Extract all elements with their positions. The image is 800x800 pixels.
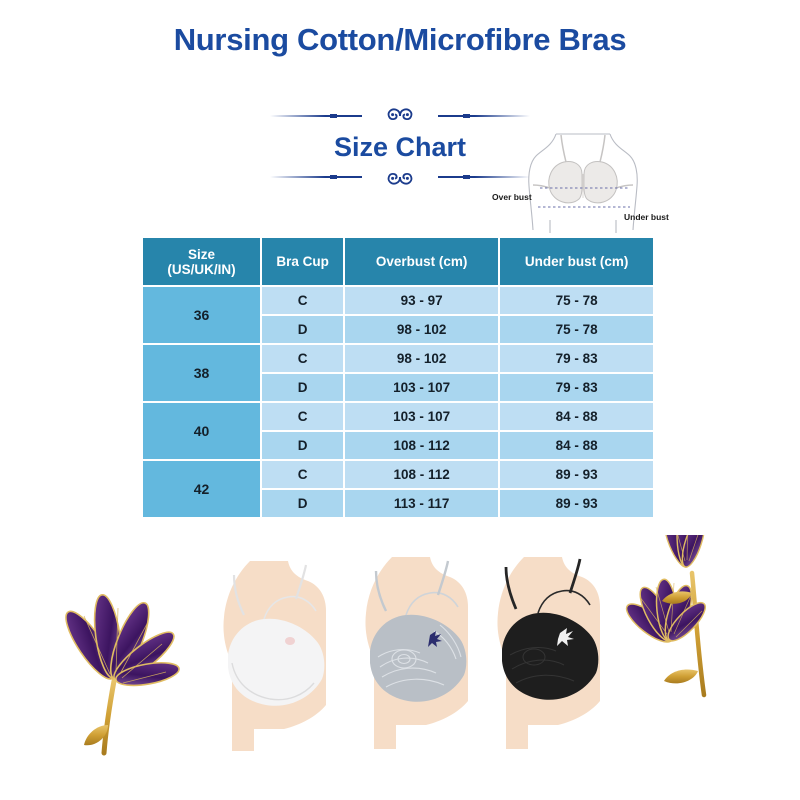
table-header-row: Size (US/UK/IN) Bra Cup Overbust (cm) Un… [143,238,653,285]
decorative-flower-right [600,535,775,750]
table-row: 36 C 93 - 97 75 - 78 [143,287,653,314]
cell-cup: C [262,461,343,488]
cell-cup: D [262,490,343,517]
cell-cup: D [262,316,343,343]
cell-underbust: 84 - 88 [500,432,653,459]
cell-cup: C [262,345,343,372]
cell-overbust: 113 - 117 [345,490,498,517]
cell-cup: C [262,403,343,430]
page-title: Nursing Cotton/Microfibre Bras [0,22,800,58]
divider-dash-left [330,114,337,118]
cell-overbust: 103 - 107 [345,374,498,401]
product-image-white-bra [192,555,352,755]
column-header-underbust: Under bust (cm) [500,238,653,285]
cell-size: 38 [143,345,260,401]
cell-overbust: 98 - 102 [345,345,498,372]
cell-underbust: 75 - 78 [500,287,653,314]
cell-underbust: 79 - 83 [500,374,653,401]
column-header-size-line2: (US/UK/IN) [147,262,256,277]
cell-underbust: 89 - 93 [500,461,653,488]
table-row: 38 C 98 - 102 79 - 83 [143,345,653,372]
cell-cup: C [262,287,343,314]
divider-rule-left [270,176,362,178]
size-chart-table: Size (US/UK/IN) Bra Cup Overbust (cm) Un… [141,236,655,519]
bra-photo-white-icon [192,555,352,755]
size-chart-page: Nursing Cotton/Microfibre Bras Size Char… [0,0,800,800]
table-header: Size (US/UK/IN) Bra Cup Overbust (cm) Un… [143,238,653,285]
cell-overbust: 108 - 112 [345,432,498,459]
cell-size: 40 [143,403,260,459]
over-bust-label: Over bust [492,192,532,202]
divider-rule-right [438,115,530,117]
divider-dash-right [463,175,470,179]
under-bust-label: Under bust [624,212,669,222]
scroll-flourish-icon [363,105,437,127]
purple-gold-flower-stem-icon [600,535,775,750]
divider-top [270,105,530,127]
cell-overbust: 98 - 102 [345,316,498,343]
cell-underbust: 79 - 83 [500,345,653,372]
cell-size: 42 [143,461,260,517]
scroll-flourish-icon [363,166,437,188]
cell-underbust: 84 - 88 [500,403,653,430]
divider-dash-right [463,114,470,118]
bra-measurement-diagram: Over bust Under bust [478,128,688,233]
cell-overbust: 108 - 112 [345,461,498,488]
cell-underbust: 75 - 78 [500,316,653,343]
cell-size: 36 [143,287,260,343]
table-row: 42 C 108 - 112 89 - 93 [143,461,653,488]
cell-overbust: 93 - 97 [345,287,498,314]
table-row: 40 C 103 - 107 84 - 88 [143,403,653,430]
cell-cup: D [262,432,343,459]
decorative-flower-left [58,585,208,760]
cell-underbust: 89 - 93 [500,490,653,517]
column-header-size-line1: Size [147,247,256,262]
column-header-bra-cup: Bra Cup [262,238,343,285]
column-header-overbust: Overbust (cm) [345,238,498,285]
column-header-size: Size (US/UK/IN) [143,238,260,285]
purple-gold-flower-icon [58,585,208,760]
divider-dash-left [330,175,337,179]
table-body: 36 C 93 - 97 75 - 78 D 98 - 102 75 - 78 … [143,287,653,517]
divider-rule-left [270,115,362,117]
cell-overbust: 103 - 107 [345,403,498,430]
cell-cup: D [262,374,343,401]
